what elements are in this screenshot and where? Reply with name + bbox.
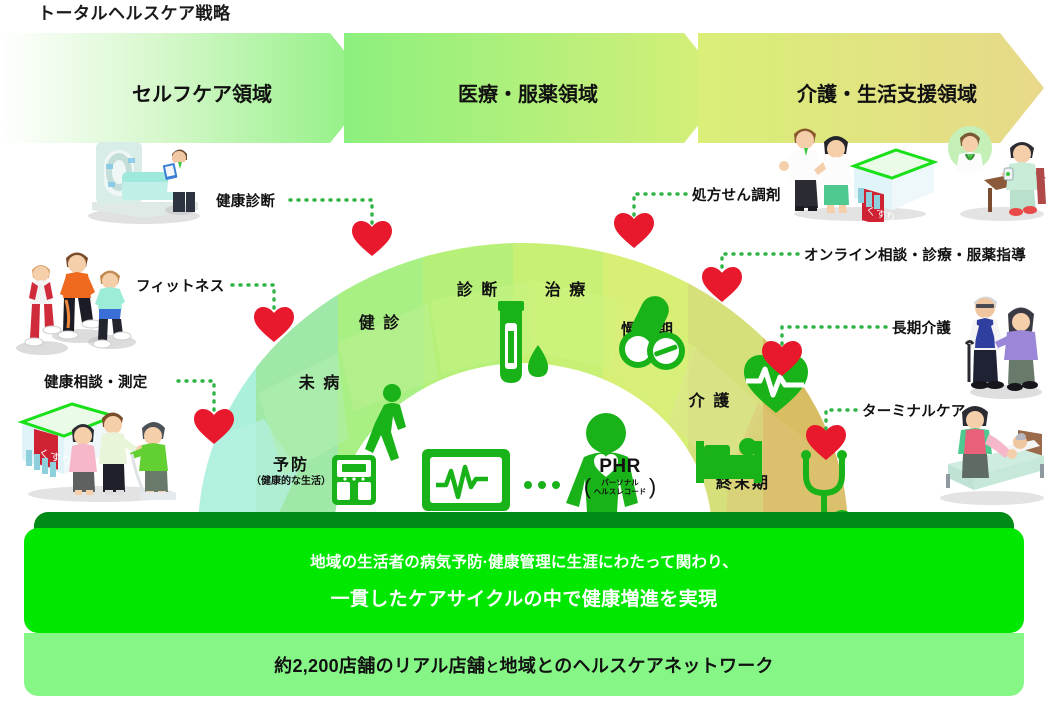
phr-subtitle-line1: パーソナル [601,478,639,487]
phr-subtitle: パーソナル ヘルスレコード [584,478,657,497]
callout-label-terminal-care: ターミナルケア [862,400,966,421]
callout-label-fitness: フィットネス [136,275,225,296]
center-icon-cluster [198,243,848,533]
banner-label-medical: 医療・服薬領域 [398,78,658,107]
callout-label-prescription-dispensing: 処方せん調剤 [692,184,781,205]
callout-label-long-term-care: 長期介護 [892,317,951,338]
bottom-bar-main-line2: 一貫したケアサイクルの中で健康増進を実現 [330,584,717,611]
page-title: トータルヘルスケア戦略 [38,0,231,24]
network-tail: 地域とのヘルスケアネットワーク [500,656,774,676]
pharmacy-dispensing-scene: くすり [778,120,938,222]
network-store-count: 約2,200店舗のリアル店舗 [274,656,485,676]
infographic-root: トータルヘルスケア戦略 [0,0,1048,701]
hospital-bed-icon [696,438,762,483]
bottom-bar-main-line1: 地域の生活者の病気予防·健康管理に生涯にわたって関わり、 [310,550,738,572]
bottom-bar-main: 地域の生活者の病気予防·健康管理に生涯にわたって関わり、 一貫したケアサイクルの… [24,528,1024,633]
bottom-bar-network: 約2,200店舗のリアル店舗と地域とのヘルスケアネットワーク [24,633,1024,696]
callout-label-health-consultation: 健康相談・測定 [44,371,148,392]
banner-label-selfcare: セルフケア領域 [72,78,332,107]
blood-test-tube-icon [498,301,548,383]
phr-caption: PHR パーソナル ヘルスレコード [566,457,674,499]
callout-label-health-checkup: 健康診断 [216,190,275,211]
bottom-bar-network-text: 約2,200店舗のリアル店舗と地域とのヘルスケアネットワーク [274,652,774,678]
fitness-group-scene [8,248,142,360]
heart-pulse-icon [744,355,808,413]
pharmacy-consult-scene: くすり [10,392,190,504]
banner-label-nursing: 介護・生活支援領域 [742,78,1032,107]
network-conjunction: と [485,659,499,675]
ct-scanner-scene [78,124,218,224]
phr-title: PHR [566,457,674,476]
callout-label-online-consultation: オンライン相談・診療・服薬指導 [804,244,1026,265]
phr-subtitle-line2: ヘルスレコード [594,487,647,496]
pills-capsule-icon [619,291,685,370]
body-composition-scale-icon [332,455,376,505]
dot-connector [524,481,532,489]
online-consult-scene [946,122,1048,222]
elderly-care-scene [962,288,1048,400]
walking-person-icon [365,384,406,461]
